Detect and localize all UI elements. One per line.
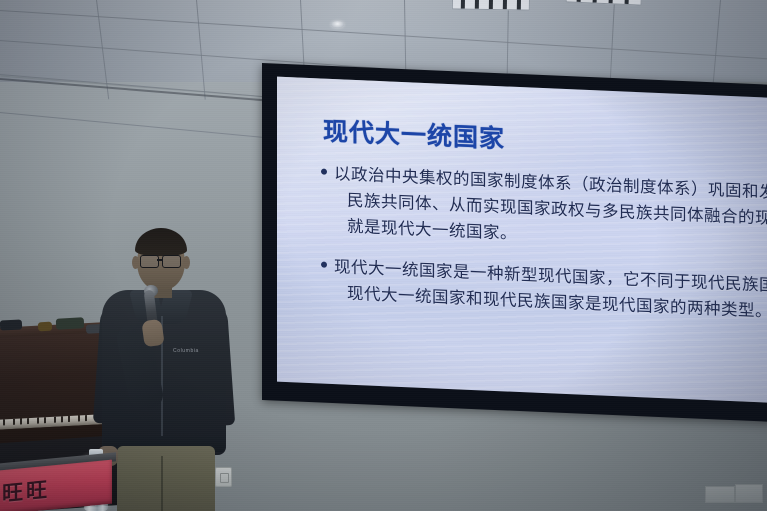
piano-top-object — [38, 322, 52, 332]
jacket-logo: Columbia — [173, 348, 199, 354]
bullet-dot-icon — [321, 262, 327, 268]
wall-panel — [705, 486, 735, 503]
presenter: Columbia — [95, 228, 240, 511]
red-sign-text: 旺旺 — [2, 473, 50, 508]
projection-screen[interactable]: 现代大一统国家 以政治中央集权的国家制度体系（政治制度体系）巩固和发展多 民族共… — [262, 63, 767, 422]
ear-left — [132, 256, 139, 269]
recessed-downlight-icon — [331, 21, 344, 28]
list-item: 现代大一统国家是一种新型现代国家，它不同于现代民族国家。 现代大一统国家和现代民… — [321, 254, 767, 330]
presentation-slide: 现代大一统国家 以政治中央集权的国家制度体系（政治制度体系）巩固和发展多 民族共… — [277, 77, 767, 403]
eyeglasses-lens-left — [140, 255, 159, 268]
eyeglasses-bridge — [157, 259, 163, 261]
wall-panel — [735, 484, 763, 503]
trousers — [117, 446, 215, 511]
ear-right — [183, 256, 190, 269]
slide-title: 现代大一统国家 — [323, 112, 505, 156]
piano-top-object — [0, 319, 22, 330]
bullet-dot-icon — [321, 169, 327, 175]
list-item: 以政治中央集权的国家制度体系（政治制度体系）巩固和发展多 民族共同体、从而实现国… — [321, 161, 767, 263]
slide-bullet-list: 以政治中央集权的国家制度体系（政治制度体系）巩固和发展多 民族共同体、从而实现国… — [321, 161, 767, 345]
photo-scene: 现代大一统国家 以政治中央集权的国家制度体系（政治制度体系）巩固和发展多 民族共… — [0, 0, 767, 511]
piano-top-object — [56, 317, 85, 329]
air-vent-icon — [452, 0, 530, 11]
hair — [135, 228, 187, 256]
hand-holding-microphone — [141, 319, 164, 348]
eyeglasses-lens-right — [162, 255, 181, 268]
trouser-seam — [161, 456, 163, 511]
